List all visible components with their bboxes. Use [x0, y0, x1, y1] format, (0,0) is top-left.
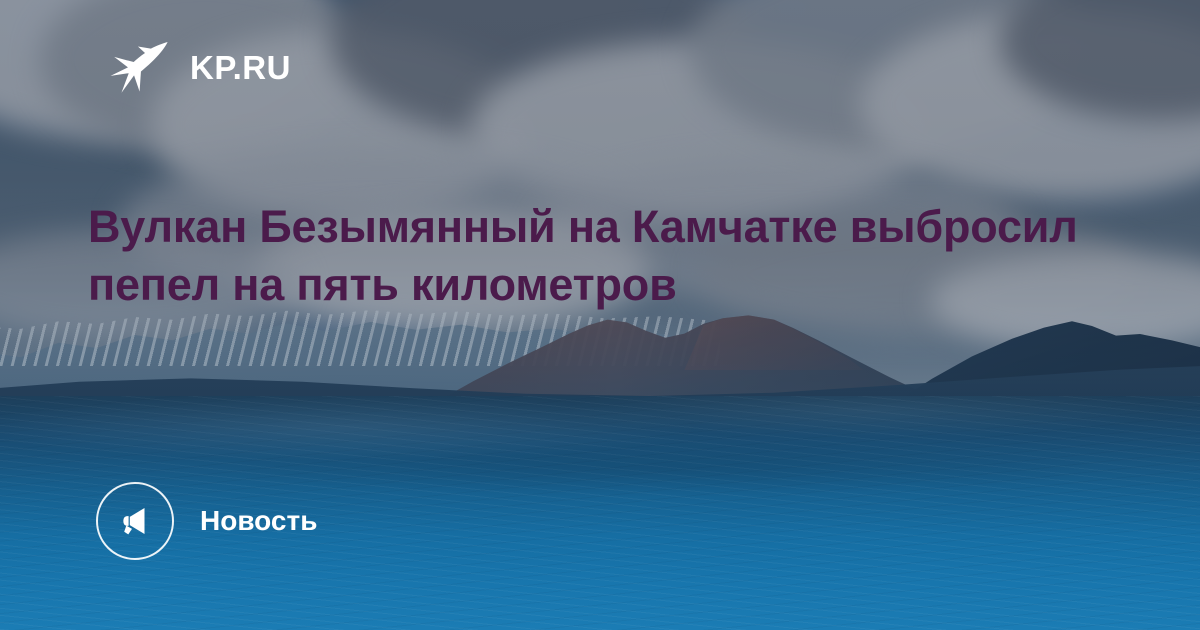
brand-logo[interactable]: KP.RU: [108, 36, 291, 98]
news-share-card: KP.RU Вулкан Безымянный на Камчатке выбр…: [0, 0, 1200, 630]
megaphone-icon: [96, 482, 174, 560]
status-badge-label: Новость: [200, 507, 317, 535]
brand-name: KP.RU: [190, 51, 291, 84]
page-title: Вулкан Безымянный на Камчатке выбросил п…: [88, 198, 1088, 314]
status-badge[interactable]: Новость: [96, 482, 317, 560]
swallow-bird-icon: [108, 36, 170, 98]
